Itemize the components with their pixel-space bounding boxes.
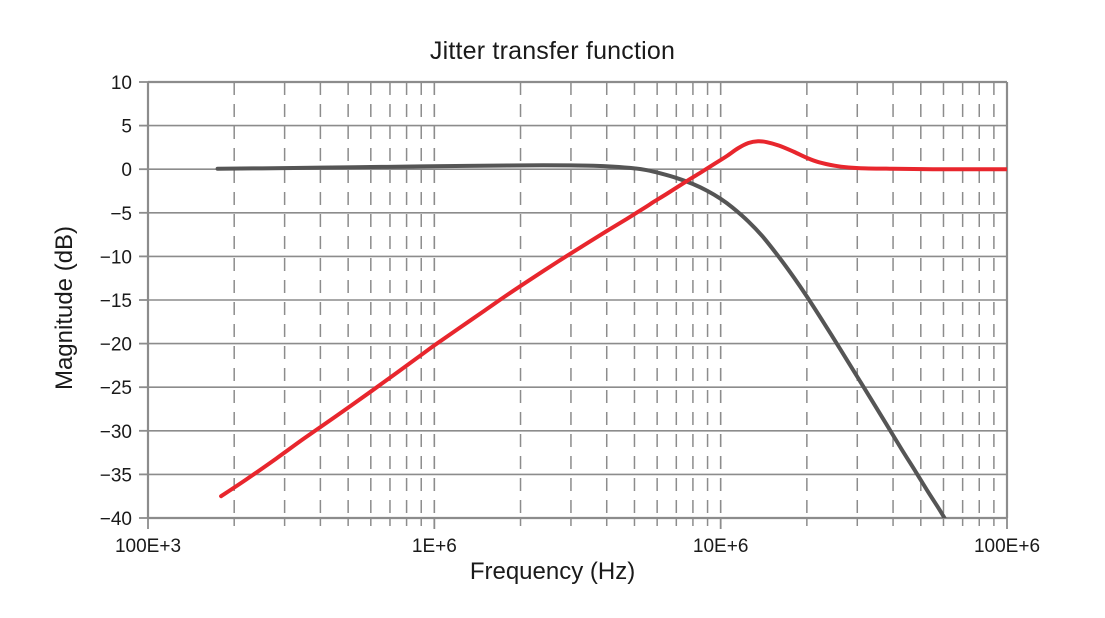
y-tick-label: 0: [121, 160, 132, 181]
x-tick-marks: [148, 518, 1007, 529]
x-tick-label: 1E+6: [412, 536, 457, 557]
data-series: [218, 141, 1007, 518]
y-tick-label: −30: [100, 422, 132, 443]
series-line-gray: [218, 165, 945, 518]
y-tick-label: 10: [111, 73, 132, 94]
y-tick-label: 5: [121, 117, 132, 138]
x-tick-labels: 100E+31E+610E+6100E+6: [115, 536, 1040, 557]
series-line-red: [221, 141, 1007, 496]
y-axis-label: Magnitude (dB): [51, 188, 79, 428]
jitter-transfer-chart: Jitter transfer function 1050−5−10−15−20…: [0, 0, 1105, 618]
y-tick-label: −35: [100, 465, 132, 486]
y-tick-label: −25: [100, 378, 132, 399]
plot-area: 1050−5−10−15−20−25−30−35−40 100E+31E+610…: [0, 0, 1105, 618]
y-tick-label: −15: [100, 291, 132, 312]
y-tick-label: −5: [110, 204, 132, 225]
y-tick-label: −10: [100, 247, 132, 268]
x-axis-label: Frequency (Hz): [0, 557, 1105, 587]
y-tick-label: −40: [100, 509, 132, 530]
major-gridlines: [139, 82, 1007, 518]
x-tick-label: 10E+6: [693, 536, 748, 557]
x-tick-label: 100E+3: [115, 536, 181, 557]
y-tick-labels: 1050−5−10−15−20−25−30−35−40: [100, 73, 132, 530]
x-tick-label: 100E+6: [974, 536, 1040, 557]
y-tick-label: −20: [100, 335, 132, 356]
